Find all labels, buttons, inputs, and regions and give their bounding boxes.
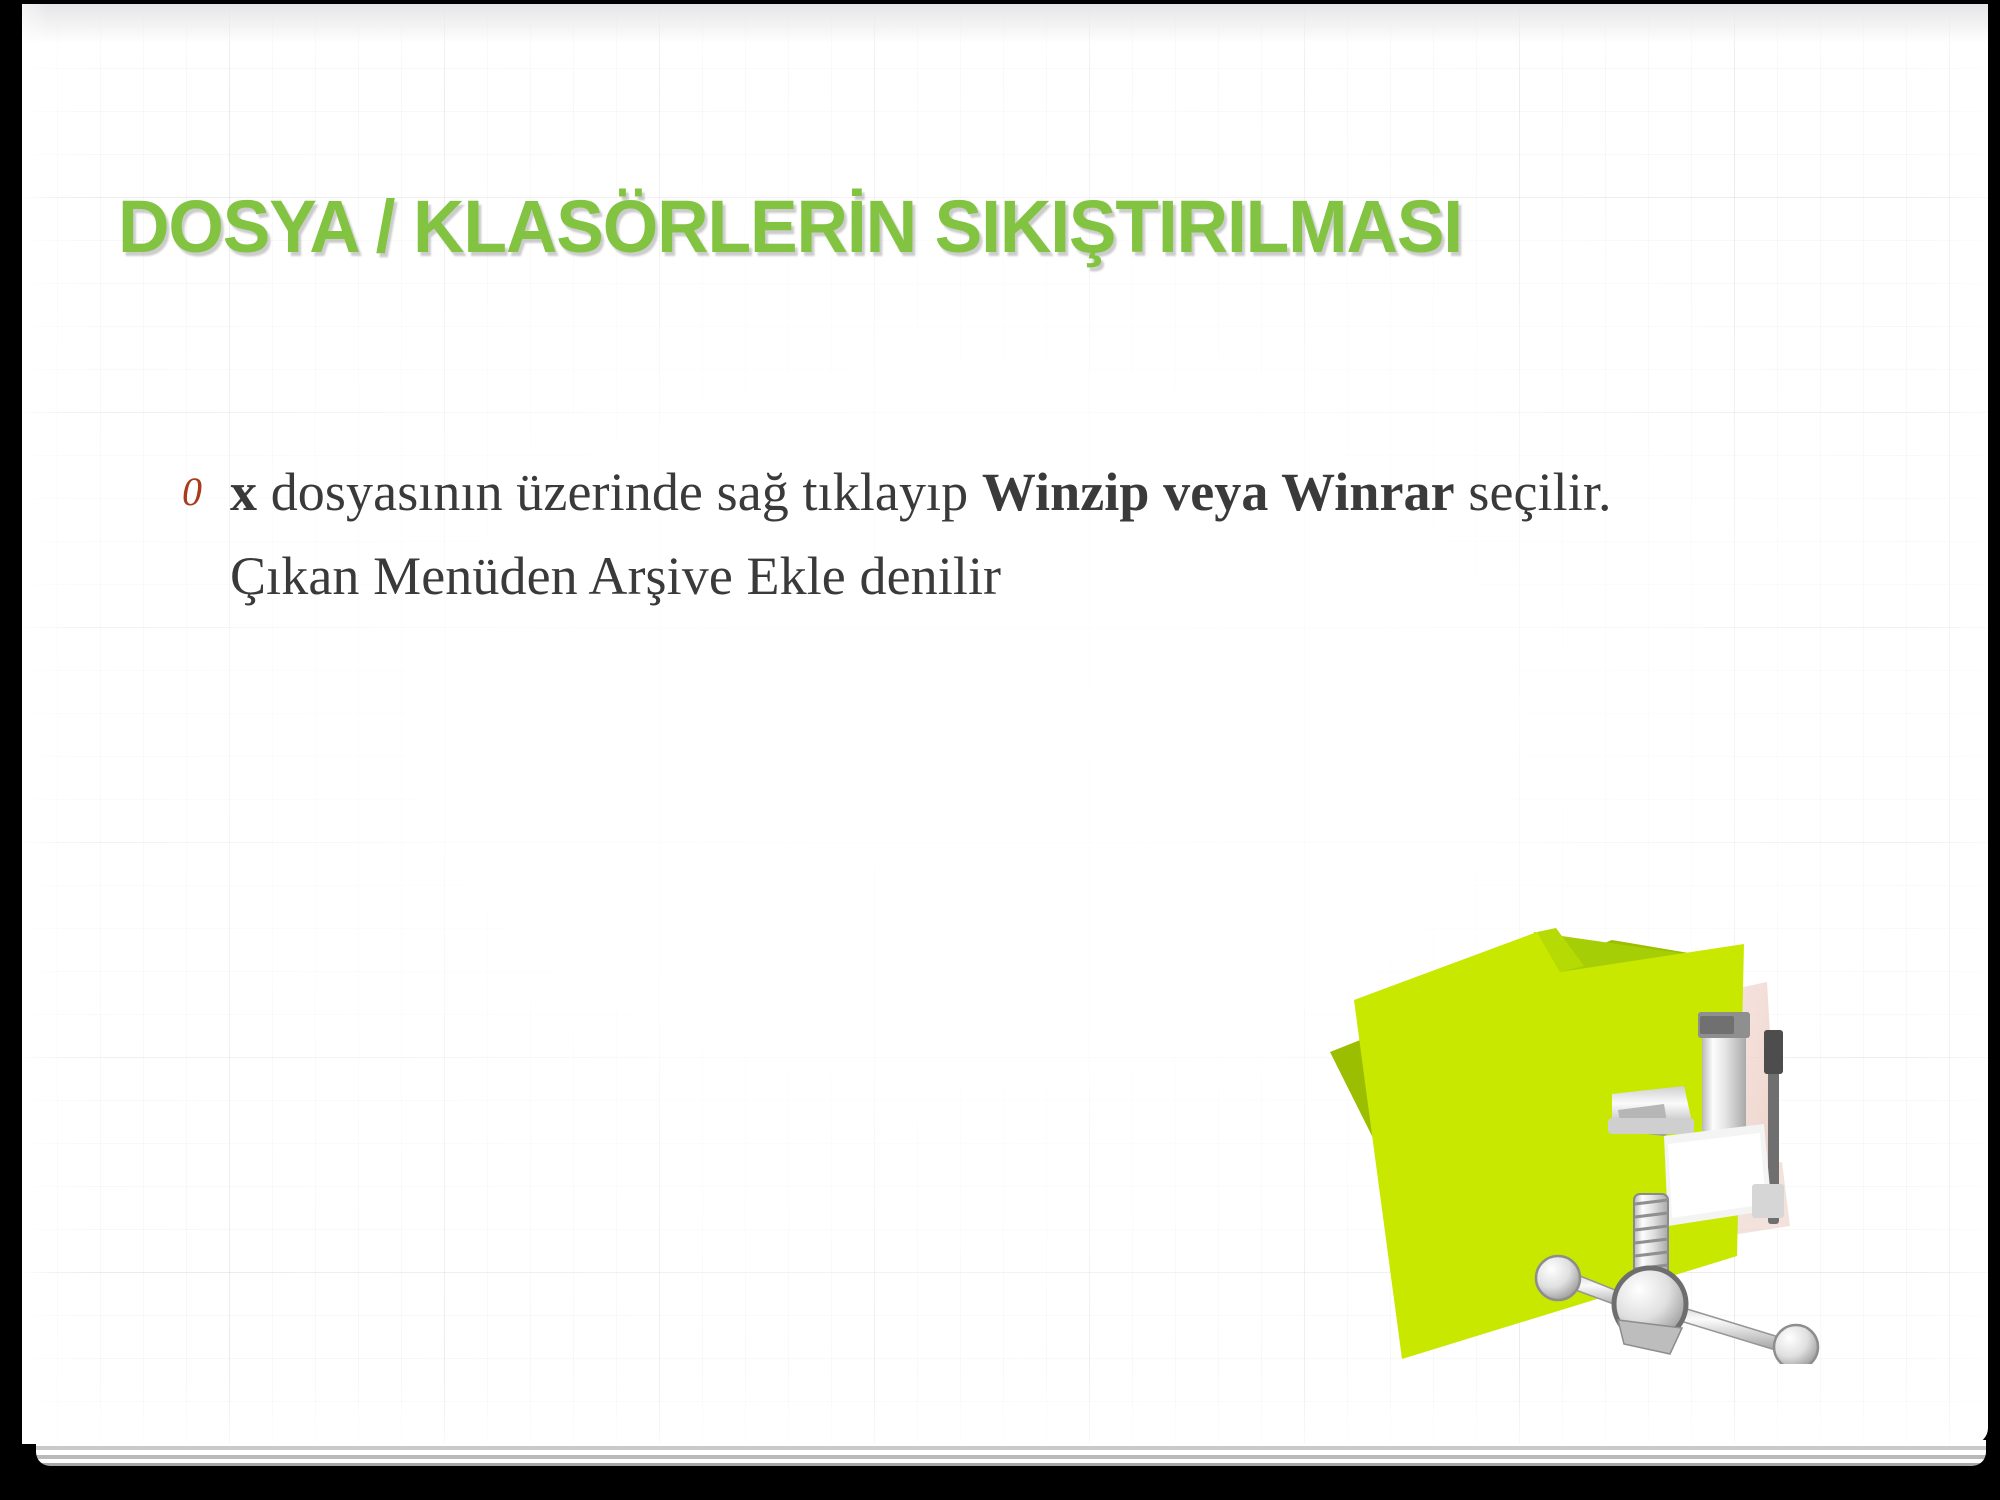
slide-title: DOSYA / KLASÖRLERİN SIKIŞTIRILMASI <box>118 190 1759 264</box>
bullet-segment-0: x <box>230 462 257 522</box>
bullet-segment-2: Winzip veya Winrar <box>982 462 1455 522</box>
bullet-marker-icon: 0 <box>182 450 230 534</box>
green-folder-with-clamp-icon <box>1312 904 1942 1364</box>
sheet-content: DOSYA / KLASÖRLERİN SIKIŞTIRILMASI 0 x d… <box>22 4 1988 1444</box>
slide-body: 0 x dosyasının üzerinde sağ tıklayıp Win… <box>182 450 1632 618</box>
clamp-lower-jaw <box>1608 1086 1694 1136</box>
bullet-text: x dosyasının üzerinde sağ tıklayıp Winzi… <box>230 450 1632 618</box>
slide-frame: DOSYA / KLASÖRLERİN SIKIŞTIRILMASI 0 x d… <box>0 0 2000 1500</box>
bullet-item: 0 x dosyasının üzerinde sağ tıklayıp Win… <box>182 450 1632 618</box>
bullet-segment-1: dosyasının üzerinde sağ tıklayıp <box>257 462 982 522</box>
slide-sheet: DOSYA / KLASÖRLERİN SIKIŞTIRILMASI 0 x d… <box>22 4 1988 1444</box>
